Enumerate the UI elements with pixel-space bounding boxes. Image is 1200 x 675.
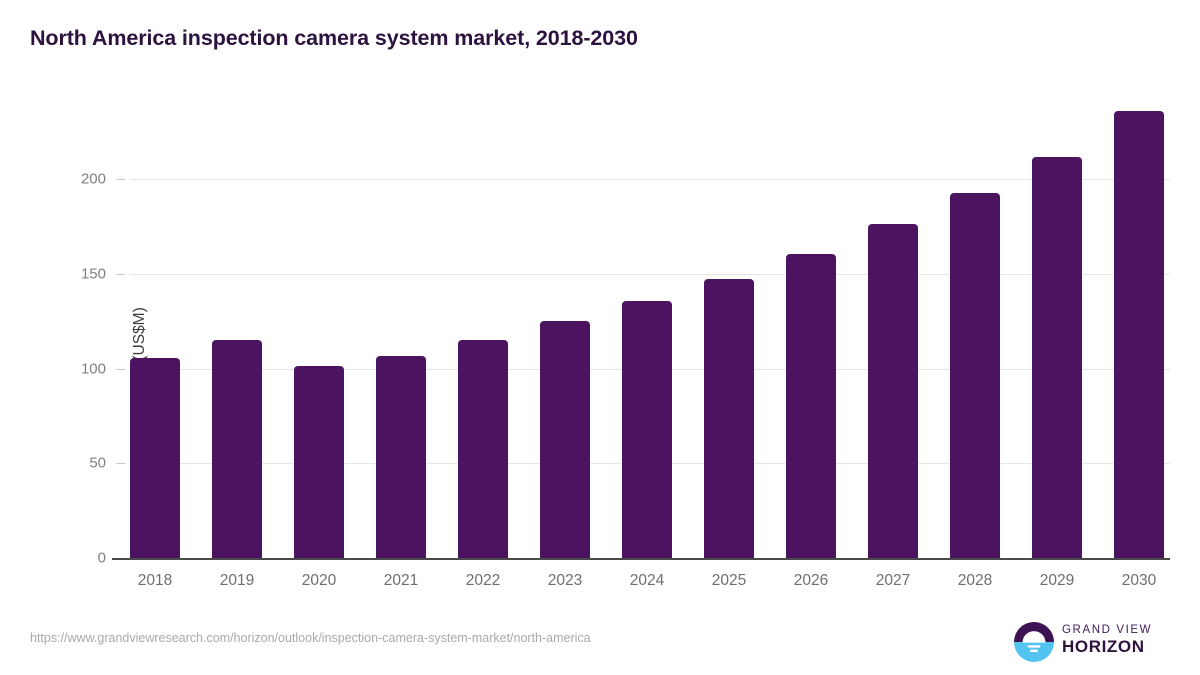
x-axis-line	[112, 558, 1170, 560]
y-tick-label: 150	[46, 265, 106, 282]
gridline	[130, 179, 1170, 180]
x-tick-label: 2025	[689, 572, 769, 590]
bar[interactable]	[130, 358, 180, 558]
y-tick-label: 0	[46, 550, 106, 567]
x-tick-label: 2024	[607, 572, 687, 590]
y-tick-label: 200	[46, 171, 106, 188]
x-tick-label: 2027	[853, 572, 933, 590]
y-tick-mark	[116, 369, 125, 370]
bar[interactable]	[868, 224, 918, 558]
y-tick-mark	[116, 274, 125, 275]
gridline	[130, 274, 1170, 275]
bar[interactable]	[1114, 111, 1164, 558]
bar[interactable]	[1032, 157, 1082, 558]
bar[interactable]	[704, 279, 754, 558]
bar[interactable]	[622, 301, 672, 558]
bar[interactable]	[212, 340, 262, 558]
logo-line-1: GRAND VIEW	[1062, 624, 1152, 637]
page-title: North America inspection camera system m…	[30, 26, 638, 51]
bar[interactable]	[540, 321, 590, 558]
y-tick-label: 100	[46, 360, 106, 377]
x-tick-label: 2026	[771, 572, 851, 590]
x-tick-label: 2029	[1017, 572, 1097, 590]
brand-logo[interactable]: GRAND VIEW HORIZON	[1014, 620, 1170, 664]
y-tick-label: 50	[46, 455, 106, 472]
horizon-circle-icon	[1014, 622, 1054, 662]
x-tick-label: 2023	[525, 572, 605, 590]
chart-card: North America inspection camera system m…	[0, 0, 1200, 675]
x-tick-label: 2021	[361, 572, 441, 590]
y-tick-mark	[116, 463, 125, 464]
logo-wordmark: GRAND VIEW HORIZON	[1062, 624, 1152, 656]
bar[interactable]	[458, 340, 508, 558]
source-url[interactable]: https://www.grandviewresearch.com/horizo…	[30, 631, 591, 645]
x-tick-label: 2030	[1099, 572, 1179, 590]
x-tick-label: 2019	[197, 572, 277, 590]
bar[interactable]	[376, 356, 426, 558]
bar[interactable]	[294, 366, 344, 558]
x-tick-label: 2018	[115, 572, 195, 590]
logo-line-2: HORIZON	[1062, 637, 1152, 656]
y-tick-mark	[116, 179, 125, 180]
bar[interactable]	[950, 193, 1000, 558]
x-tick-label: 2022	[443, 572, 523, 590]
bar[interactable]	[786, 254, 836, 558]
x-tick-label: 2028	[935, 572, 1015, 590]
x-tick-label: 2020	[279, 572, 359, 590]
